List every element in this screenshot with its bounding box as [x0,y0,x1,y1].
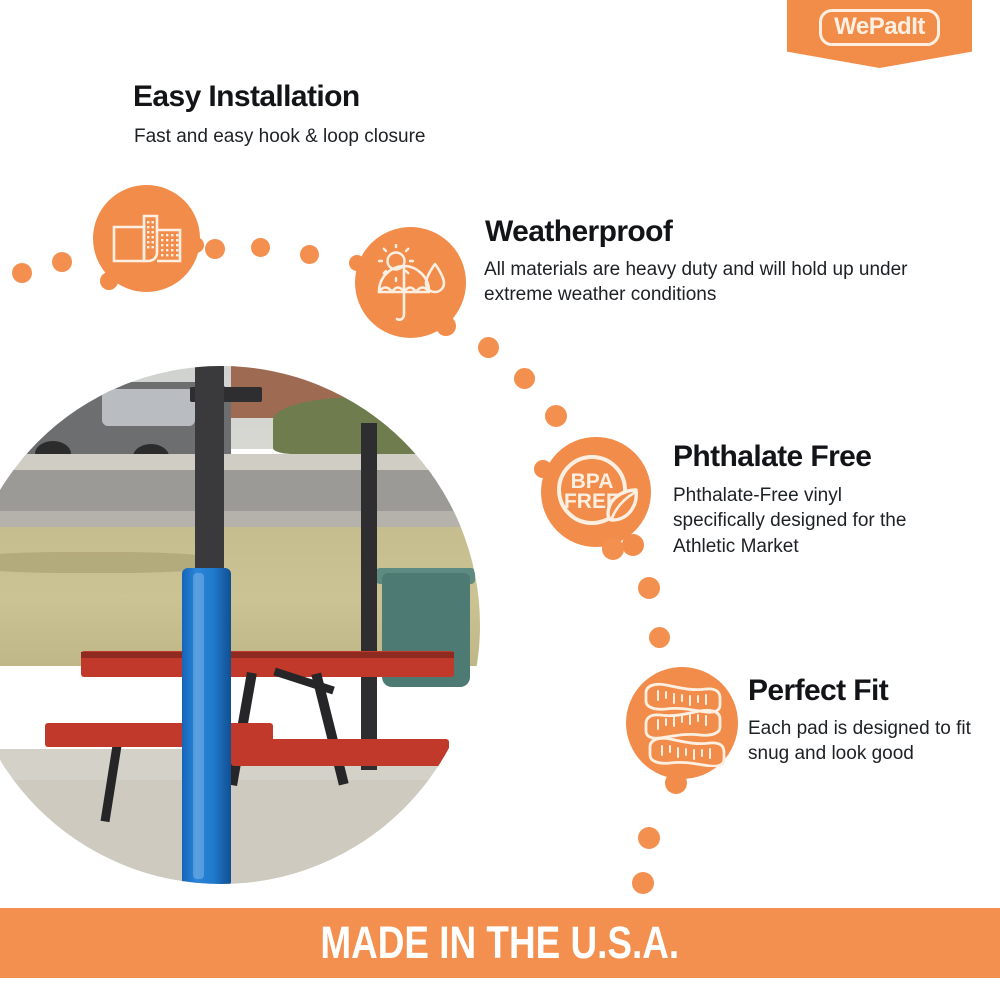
feature-subtitle-easy-installation: Fast and easy hook & loop closure [134,124,594,149]
trail-dot [251,238,270,257]
icon-blob-weather-1 [349,255,365,271]
measuring-tape-icon [626,667,738,779]
trail-dot [205,239,225,259]
feature-title-easy-installation: Easy Installation [133,80,360,114]
trail-dot [545,405,567,427]
product-photo [0,366,480,884]
trail-dot [52,252,72,272]
trail-dot [300,245,319,264]
logo-text-part2: Pad [869,13,912,40]
feature-subtitle-perfect-fit: Each pad is designed to fit snug and loo… [748,716,978,767]
icon-blob-easy-1 [188,237,204,253]
icon-blob-easy-2 [100,272,118,290]
brand-logo-banner: WePadIt [787,0,972,68]
trail-dot [478,337,499,358]
icon-blob-weather-2 [436,316,456,336]
feature-subtitle-phthalate-free: Phthalate-Free vinyl specifically design… [673,483,938,559]
made-in-usa-text: MADE IN THE U.S.A. [321,917,680,969]
logo-text-part3: It [911,13,925,40]
logo-outline-box: WePadIt [819,9,940,46]
icon-blob-bpa-2 [622,534,644,556]
made-in-usa-banner: MADE IN THE U.S.A. [0,908,1000,978]
trail-dot [649,627,670,648]
trail-dot [514,368,535,389]
feature-subtitle-weatherproof: All materials are heavy duty and will ho… [484,257,914,308]
bpa-free-leaf-icon: BPA FREE [541,437,651,547]
trail-dot [638,827,660,849]
feature-title-weatherproof: Weatherproof [485,215,672,249]
icon-blob-perfect-1 [665,772,687,794]
trail-dot [632,872,654,894]
product-photo-scene [0,366,480,884]
trail-dot [12,263,32,283]
feature-title-phthalate-free: Phthalate Free [673,440,871,474]
icon-blob-bpa-1 [534,460,552,478]
logo-text: WePadIt [834,15,925,39]
trail-dot [638,577,660,599]
logo-text-part1: We [834,13,869,40]
blue-post-pad [182,568,231,884]
trail-dot [602,538,624,560]
infographic-page: WePadIt Easy Installation Fast and easy … [0,0,1000,987]
feature-title-perfect-fit: Perfect Fit [748,674,888,708]
